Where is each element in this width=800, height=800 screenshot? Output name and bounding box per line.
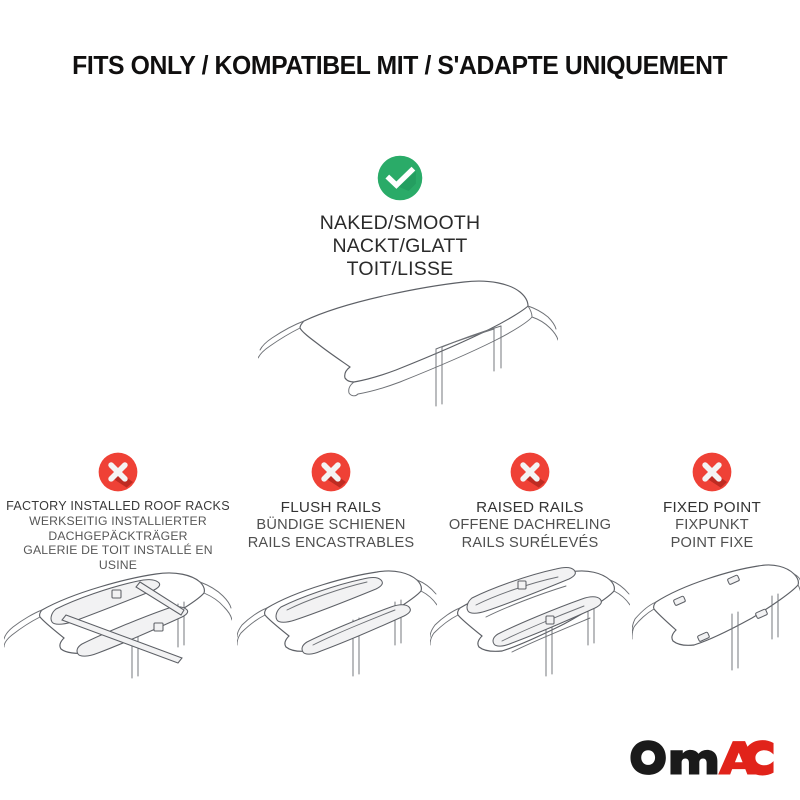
car-roof-factory-racks-illustration (4, 552, 232, 692)
label-line-1: BÜNDIGE SCHIENEN (237, 517, 425, 535)
car-roof-flush-rails-illustration (237, 552, 425, 692)
label-line-2: RAILS ENCASTRABLES (237, 535, 425, 553)
cross-circle-icon (692, 452, 732, 492)
car-roof-naked-smooth-illustration (258, 276, 558, 426)
car-roof-fixed-point-illustration (632, 548, 792, 688)
compatible-label-en: NAKED/SMOOTH (0, 212, 800, 235)
label-line-0: FLUSH RAILS (237, 499, 425, 517)
page-title: FITS ONLY / KOMPATIBEL MIT / S'ADAPTE UN… (0, 52, 800, 81)
incompatible-labels: FLUSH RAILS BÜNDIGE SCHIENEN RAILS ENCAS… (237, 499, 425, 552)
incompatible-item-factory-installed-roof-racks: FACTORY INSTALLED ROOF RACKS WERKSEITIG … (4, 452, 232, 573)
cross-circle-icon (510, 452, 550, 492)
label-line-1: WERKSEITIG INSTALLIERTER (4, 514, 232, 529)
page-title-text: FITS ONLY / KOMPATIBEL MIT / S'ADAPTE UN… (72, 52, 727, 81)
omac-logo-mark (628, 738, 776, 778)
label-line-0: FACTORY INSTALLED ROOF RACKS (4, 499, 232, 514)
compatible-labels: NAKED/SMOOTH NACKT/GLATT TOIT/LISSE (0, 212, 800, 281)
incompatible-item-raised-rails: RAISED RAILS OFFENE DACHRELING RAILS SUR… (430, 452, 630, 552)
label-line-0: FIXED POINT (632, 499, 792, 517)
car-roof-raised-rails-illustration (430, 548, 630, 688)
incompatible-section: FACTORY INSTALLED ROOF RACKS WERKSEITIG … (0, 452, 800, 712)
incompatible-item-fixed-point: FIXED POINT FIXPUNKT POINT FIXE (632, 452, 792, 552)
label-line-1: OFFENE DACHRELING (430, 517, 630, 535)
cross-circle-icon (311, 452, 351, 492)
cross-circle-icon (98, 452, 138, 492)
check-circle-icon (377, 155, 423, 201)
incompatible-item-flush-rails: FLUSH RAILS BÜNDIGE SCHIENEN RAILS ENCAS… (237, 452, 425, 552)
compatible-section: NAKED/SMOOTH NACKT/GLATT TOIT/LISSE (0, 155, 800, 281)
compatible-label-de: NACKT/GLATT (0, 235, 800, 258)
label-line-1: FIXPUNKT (632, 517, 792, 535)
label-line-2: DACHGEPÄCKTRÄGER (4, 529, 232, 544)
label-line-0: RAISED RAILS (430, 499, 630, 517)
incompatible-labels: FIXED POINT FIXPUNKT POINT FIXE (632, 499, 792, 552)
incompatible-labels: RAISED RAILS OFFENE DACHRELING RAILS SUR… (430, 499, 630, 552)
omac-logo (628, 738, 776, 778)
